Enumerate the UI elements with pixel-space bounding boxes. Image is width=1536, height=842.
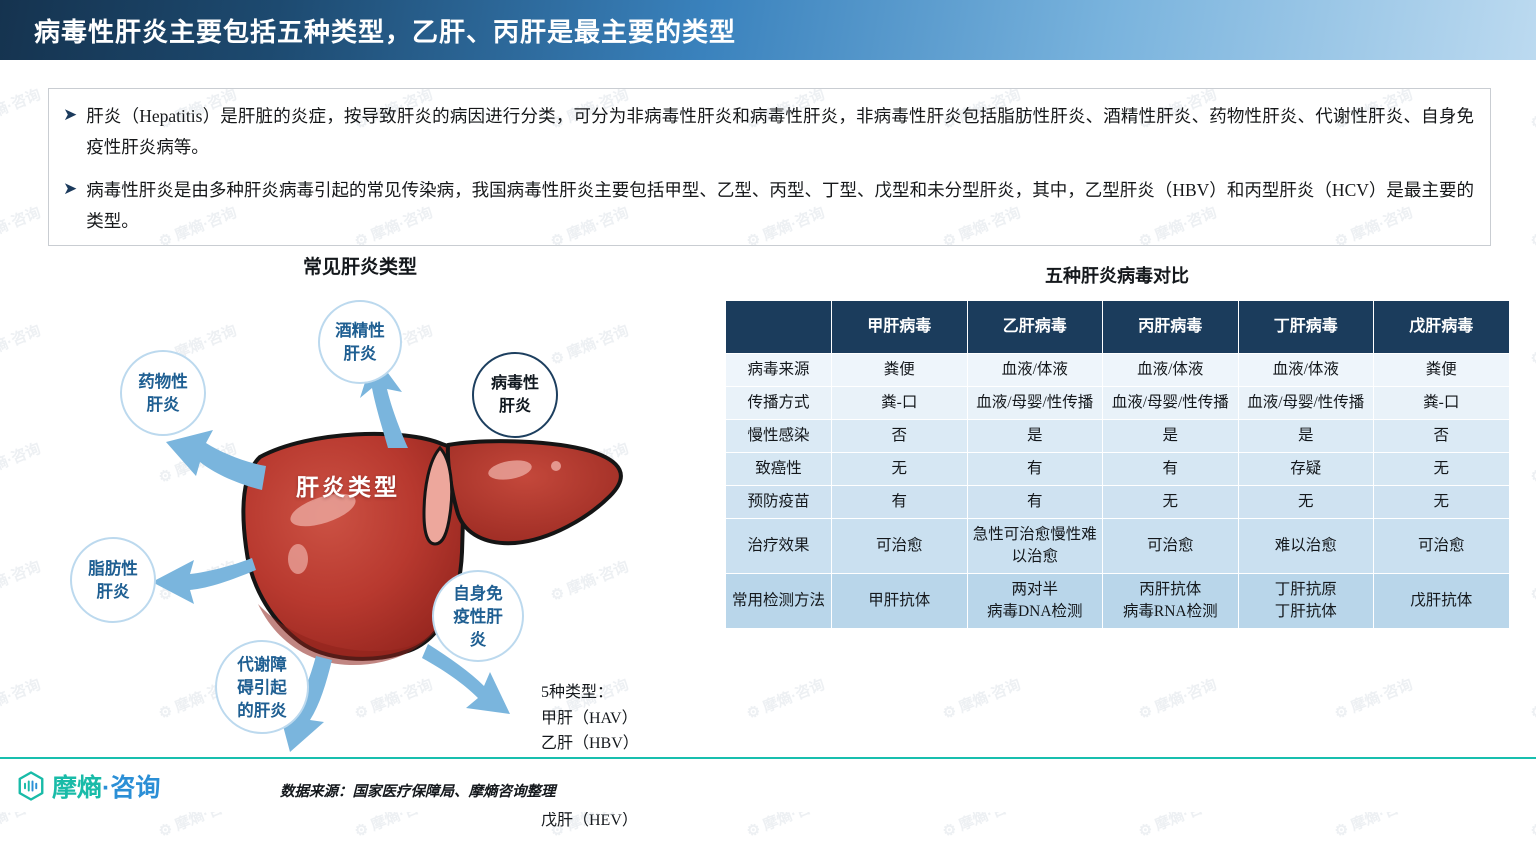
table-cell: 血液/母婴/性传播 [1103, 387, 1239, 420]
table-cell: 血液/母婴/性传播 [967, 387, 1103, 420]
column-header-hav: 甲肝病毒 [832, 301, 968, 354]
bullet-arrow-icon: ➤ [63, 175, 77, 203]
watermark-text: ⚙ 摩熵·咨询 [1331, 673, 1415, 723]
watermark-text: ⚙ 摩熵·咨询 [939, 673, 1023, 723]
data-source-note: 数据来源：国家医疗保障局、摩熵咨询整理 [280, 780, 556, 801]
brand-logo: 摩熵·咨询 [16, 768, 160, 804]
table-cell: 血液/体液 [967, 354, 1103, 387]
table-cell: 可治愈 [1103, 519, 1239, 574]
virus-comparison-table: 甲肝病毒 乙肝病毒 丙肝病毒 丁肝病毒 戊肝病毒 病毒来源粪便血液/体液血液/体… [725, 300, 1510, 629]
logo-text-primary: 摩熵 [52, 774, 102, 802]
table-cell: 可治愈 [832, 519, 968, 574]
table-cell: 无 [1374, 486, 1510, 519]
table-cell: 难以治愈 [1238, 519, 1374, 574]
table-title: 五种肝炎病毒对比 [725, 262, 1509, 288]
table-row: 预防疫苗有有无无无 [726, 486, 1510, 519]
table-row: 慢性感染否是是是否 [726, 420, 1510, 453]
slide-footer: 摩熵·咨询 数据来源：国家医疗保障局、摩熵咨询整理 [0, 759, 1536, 812]
table-cell: 丙肝抗体 病毒RNA检测 [1103, 574, 1239, 629]
table-cell: 存疑 [1238, 453, 1374, 486]
bullet-item: ➤ 肝炎（Hepatitis）是肝脏的炎症，按导致肝炎的病因进行分类，可分为非病… [63, 101, 1474, 163]
slide-header: 病毒性肝炎主要包括五种类型，乙肝、丙肝是最主要的类型 [0, 0, 1536, 60]
node-drug-hepatitis[interactable]: 药物性 肝炎 [120, 350, 206, 436]
summary-box: ➤ 肝炎（Hepatitis）是肝脏的炎症，按导致肝炎的病因进行分类，可分为非病… [48, 88, 1491, 246]
node-label: 病毒性 肝炎 [491, 372, 539, 418]
node-label: 酒精性 肝炎 [335, 319, 385, 365]
table-row: 病毒来源粪便血液/体液血液/体液血液/体液粪便 [726, 354, 1510, 387]
table-cell: 是 [967, 420, 1103, 453]
node-metabolic-hepatitis[interactable]: 代谢障 碍引起 的肝炎 [215, 640, 309, 734]
table-row: 致癌性无有有存疑无 [726, 453, 1510, 486]
column-header-hbv: 乙肝病毒 [967, 301, 1103, 354]
liver-center-label: 肝炎类型 [296, 468, 400, 502]
bullet-arrow-icon: ➤ [63, 101, 77, 129]
table-cell: 粪便 [1374, 354, 1510, 387]
table-cell: 否 [832, 420, 968, 453]
node-label: 药物性 肝炎 [138, 370, 188, 416]
page-title: 病毒性肝炎主要包括五种类型，乙肝、丙肝是最主要的类型 [34, 12, 736, 49]
node-label: 脂肪性 肝炎 [88, 557, 138, 603]
table-corner-cell [726, 301, 832, 354]
bullet-item: ➤ 病毒性肝炎是由多种肝炎病毒引起的常见传染病，我国病毒性肝炎主要包括甲型、乙型… [63, 175, 1474, 237]
table-cell: 无 [1238, 486, 1374, 519]
watermark-text: ⚙ 摩熵·咨询 [1527, 673, 1536, 723]
row-label: 病毒来源 [726, 354, 832, 387]
hexagon-logo-icon [16, 771, 46, 801]
watermark-text: ⚙ 摩熵·咨询 [1527, 201, 1536, 251]
table-cell: 两对半 病毒DNA检测 [967, 574, 1103, 629]
table-cell: 有 [832, 486, 968, 519]
table-cell: 血液/体液 [1103, 354, 1239, 387]
table-cell: 是 [1238, 420, 1374, 453]
row-label: 致癌性 [726, 453, 832, 486]
table-cell: 可治愈 [1374, 519, 1510, 574]
watermark-text: ⚙ 摩熵·咨询 [1135, 673, 1219, 723]
table-cell: 粪-口 [1374, 387, 1510, 420]
node-alcoholic-hepatitis[interactable]: 酒精性 肝炎 [318, 300, 402, 384]
table-cell: 无 [1374, 453, 1510, 486]
table-body: 病毒来源粪便血液/体液血液/体液血液/体液粪便传播方式粪-口血液/母婴/性传播血… [726, 354, 1510, 629]
column-header-hev: 戊肝病毒 [1374, 301, 1510, 354]
watermark-text: ⚙ 摩熵·咨询 [743, 673, 827, 723]
row-label: 治疗效果 [726, 519, 832, 574]
table-cell: 粪-口 [832, 387, 968, 420]
watermark-text: ⚙ 摩熵·咨询 [1527, 83, 1536, 133]
bullet-text: 病毒性肝炎是由多种肝炎病毒引起的常见传染病，我国病毒性肝炎主要包括甲型、乙型、丙… [86, 175, 1474, 237]
virus-comparison-section: 五种肝炎病毒对比 甲肝病毒 乙肝病毒 丙肝病毒 丁肝病毒 戊肝病毒 病毒来源粪便… [725, 262, 1509, 629]
watermark-text: ⚙ 摩熵·咨询 [0, 201, 44, 251]
watermark-text: ⚙ 摩熵·咨询 [1527, 319, 1536, 369]
table-row: 常用检测方法甲肝抗体两对半 病毒DNA检测丙肝抗体 病毒RNA检测丁肝抗原 丁肝… [726, 574, 1510, 629]
table-row: 传播方式粪-口血液/母婴/性传播血液/母婴/性传播血液/母婴/性传播粪-口 [726, 387, 1510, 420]
table-cell: 甲肝抗体 [832, 574, 968, 629]
watermark-text: ⚙ 摩熵·咨询 [1527, 555, 1536, 605]
table-cell: 有 [1103, 453, 1239, 486]
table-cell: 血液/母婴/性传播 [1238, 387, 1374, 420]
hepatitis-types-diagram: 常见肝炎类型 [10, 252, 710, 752]
watermark-text: ⚙ 摩熵·咨询 [0, 83, 44, 133]
row-label: 慢性感染 [726, 420, 832, 453]
table-cell: 无 [832, 453, 968, 486]
table-cell: 粪便 [832, 354, 968, 387]
table-cell: 无 [1103, 486, 1239, 519]
table-row: 治疗效果可治愈急性可治愈慢性难以治愈可治愈难以治愈可治愈 [726, 519, 1510, 574]
table-header-row: 甲肝病毒 乙肝病毒 丙肝病毒 丁肝病毒 戊肝病毒 [726, 301, 1510, 354]
row-label: 传播方式 [726, 387, 832, 420]
row-label: 常用检测方法 [726, 574, 832, 629]
node-fatty-hepatitis[interactable]: 脂肪性 肝炎 [70, 537, 156, 623]
logo-text-secondary: ·咨询 [102, 774, 160, 802]
table-cell: 戊肝抗体 [1374, 574, 1510, 629]
table-cell: 有 [967, 453, 1103, 486]
table-cell: 有 [967, 486, 1103, 519]
bullet-text: 肝炎（Hepatitis）是肝脏的炎症，按导致肝炎的病因进行分类，可分为非病毒性… [86, 101, 1474, 163]
node-label: 代谢障 碍引起 的肝炎 [237, 653, 287, 722]
node-viral-hepatitis[interactable]: 病毒性 肝炎 [472, 352, 558, 438]
column-header-hdv: 丁肝病毒 [1238, 301, 1374, 354]
node-autoimmune-hepatitis[interactable]: 自身免 疫性肝 炎 [432, 570, 524, 662]
table-cell: 血液/体液 [1238, 354, 1374, 387]
table-cell: 是 [1103, 420, 1239, 453]
table-cell: 丁肝抗原 丁肝抗体 [1238, 574, 1374, 629]
column-header-hcv: 丙肝病毒 [1103, 301, 1239, 354]
node-label: 自身免 疫性肝 炎 [453, 582, 503, 651]
table-cell: 否 [1374, 420, 1510, 453]
row-label: 预防疫苗 [726, 486, 832, 519]
table-cell: 急性可治愈慢性难以治愈 [967, 519, 1103, 574]
watermark-text: ⚙ 摩熵·咨询 [1527, 437, 1536, 487]
